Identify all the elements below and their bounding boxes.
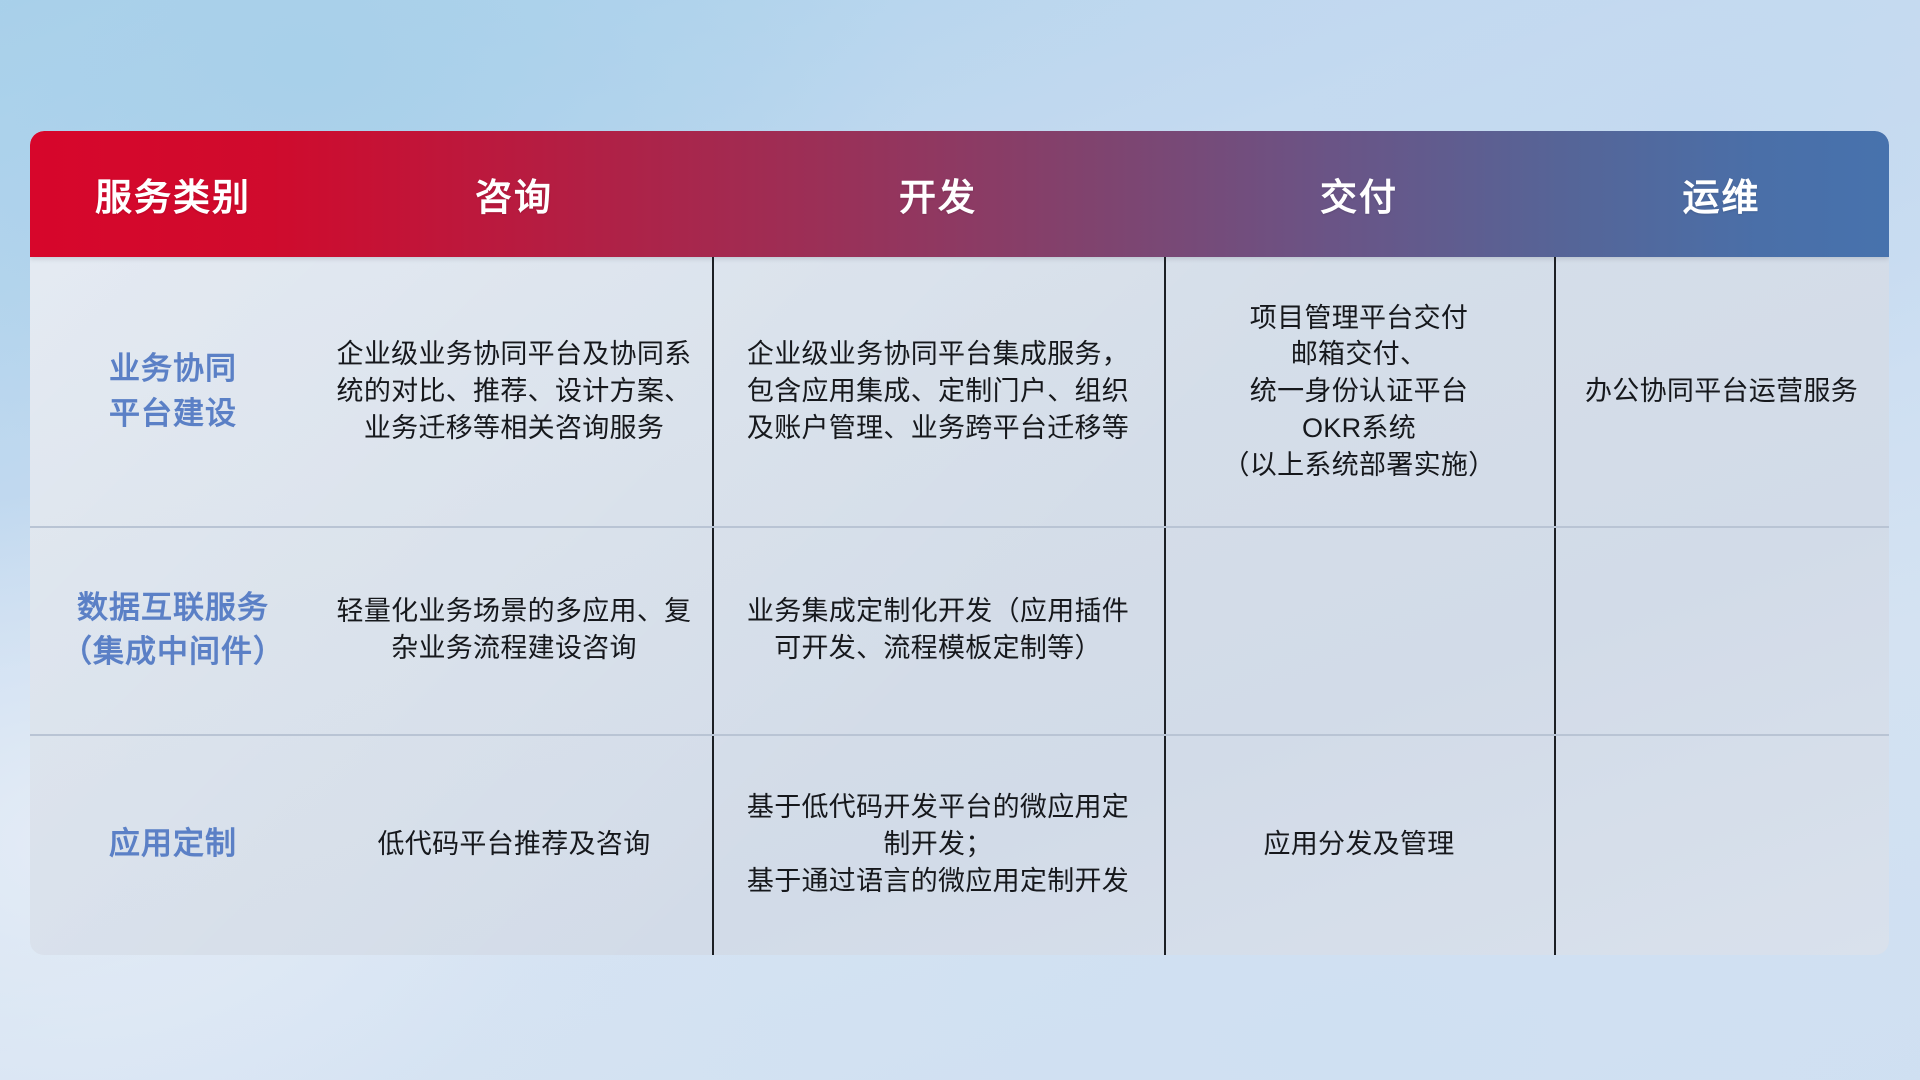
row-label-business-collaboration: 业务协同 平台建设 xyxy=(30,257,316,526)
table-row: 应用定制 低代码平台推荐及咨询 基于低代码开发平台的微应用定 制开发； 基于通过… xyxy=(30,734,1889,955)
service-matrix-table: 服务类别 咨询 开发 交付 运维 业务协同 平台建设 企业级业务协同平台及协同系… xyxy=(30,131,1889,955)
cell-development-row3: 基于低代码开发平台的微应用定 制开发； 基于通过语言的微应用定制开发 xyxy=(712,734,1164,955)
cell-development-row1: 企业级业务协同平台集成服务， 包含应用集成、定制门户、组织 及账户管理、业务跨平… xyxy=(712,257,1164,526)
column-header-development: 开发 xyxy=(712,131,1164,257)
cell-consulting-row2: 轻量化业务场景的多应用、复 杂业务流程建设咨询 xyxy=(316,526,712,734)
cell-operations-row2 xyxy=(1554,526,1889,734)
cell-delivery-row1: 项目管理平台交付 邮箱交付、 统一身份认证平台 OKR系统 （以上系统部署实施） xyxy=(1164,257,1554,526)
column-divider-3 xyxy=(1164,734,1166,955)
column-divider-3 xyxy=(1164,526,1166,734)
column-divider-4 xyxy=(1554,257,1556,526)
column-divider-2 xyxy=(712,734,714,955)
cell-operations-row3 xyxy=(1554,734,1889,955)
column-header-delivery: 交付 xyxy=(1164,131,1554,257)
cell-delivery-row3: 应用分发及管理 xyxy=(1164,734,1554,955)
cell-consulting-row3: 低代码平台推荐及咨询 xyxy=(316,734,712,955)
row-divider-2 xyxy=(30,734,1889,736)
column-header-consulting: 咨询 xyxy=(316,131,712,257)
column-divider-3 xyxy=(1164,257,1166,526)
column-divider-2 xyxy=(712,526,714,734)
table-header-row: 服务类别 咨询 开发 交付 运维 xyxy=(30,131,1889,257)
cell-operations-row1: 办公协同平台运营服务 xyxy=(1554,257,1889,526)
column-divider-4 xyxy=(1554,526,1556,734)
row-label-application-customization: 应用定制 xyxy=(30,734,316,955)
cell-delivery-row2 xyxy=(1164,526,1554,734)
column-header-service-category: 服务类别 xyxy=(30,131,316,257)
table-row: 数据互联服务 （集成中间件） 轻量化业务场景的多应用、复 杂业务流程建设咨询 业… xyxy=(30,526,1889,734)
cell-consulting-row1: 企业级业务协同平台及协同系 统的对比、推荐、设计方案、 业务迁移等相关咨询服务 xyxy=(316,257,712,526)
table-row: 业务协同 平台建设 企业级业务协同平台及协同系 统的对比、推荐、设计方案、 业务… xyxy=(30,257,1889,526)
cell-development-row2: 业务集成定制化开发（应用插件 可开发、流程模板定制等） xyxy=(712,526,1164,734)
row-label-data-interconnect: 数据互联服务 （集成中间件） xyxy=(30,526,316,734)
table-body: 业务协同 平台建设 企业级业务协同平台及协同系 统的对比、推荐、设计方案、 业务… xyxy=(30,257,1889,955)
column-divider-4 xyxy=(1554,734,1556,955)
row-divider-1 xyxy=(30,526,1889,528)
column-divider-2 xyxy=(712,257,714,526)
column-header-operations: 运维 xyxy=(1554,131,1889,257)
